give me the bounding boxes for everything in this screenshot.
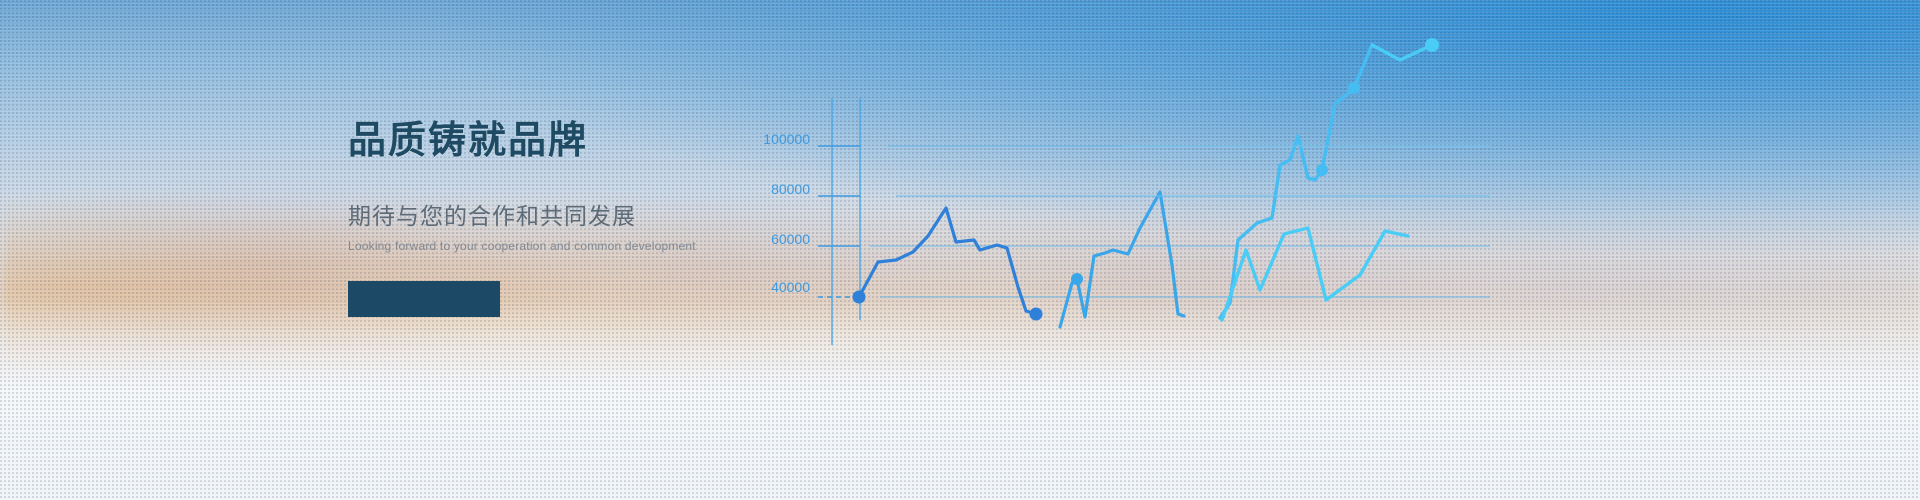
chart-series-2 [1060, 192, 1184, 327]
chart-series-1 [853, 208, 1043, 321]
y-tick-40000: 40000 [771, 279, 810, 295]
chart-svg: 100000 80000 60000 40000 [760, 0, 1920, 500]
chart-series-3-tail [1372, 45, 1432, 60]
y-tick-60000: 60000 [771, 231, 810, 247]
banner-copy-block: 品质铸就品牌 期待与您的合作和共同发展 Looking forward to y… [348, 118, 768, 317]
data-point-start [853, 291, 866, 304]
data-point-series3-a [1316, 164, 1328, 176]
chart-gridlines [870, 146, 1490, 297]
chart-tick-marks [818, 146, 860, 297]
y-tick-80000: 80000 [771, 181, 810, 197]
subtitle-chinese: 期待与您的合作和共同发展 [348, 202, 768, 232]
cta-button[interactable] [348, 281, 500, 317]
page-title: 品质铸就品牌 [348, 118, 768, 166]
chart-series-4 [1222, 228, 1408, 320]
data-point-end [1030, 308, 1043, 321]
hero-banner: 品质铸就品牌 期待与您的合作和共同发展 Looking forward to y… [0, 0, 1920, 500]
chart-y-axis-labels: 100000 80000 60000 40000 [763, 131, 810, 295]
chart-axis-lines [832, 98, 860, 345]
data-point-series3-b [1348, 82, 1360, 94]
subtitle-english: Looking forward to your cooperation and … [348, 239, 768, 255]
y-tick-100000: 100000 [763, 131, 810, 147]
data-point-series2 [1071, 273, 1083, 285]
chart-series-3 [1220, 38, 1439, 318]
decorative-line-chart: 100000 80000 60000 40000 [760, 0, 1920, 500]
